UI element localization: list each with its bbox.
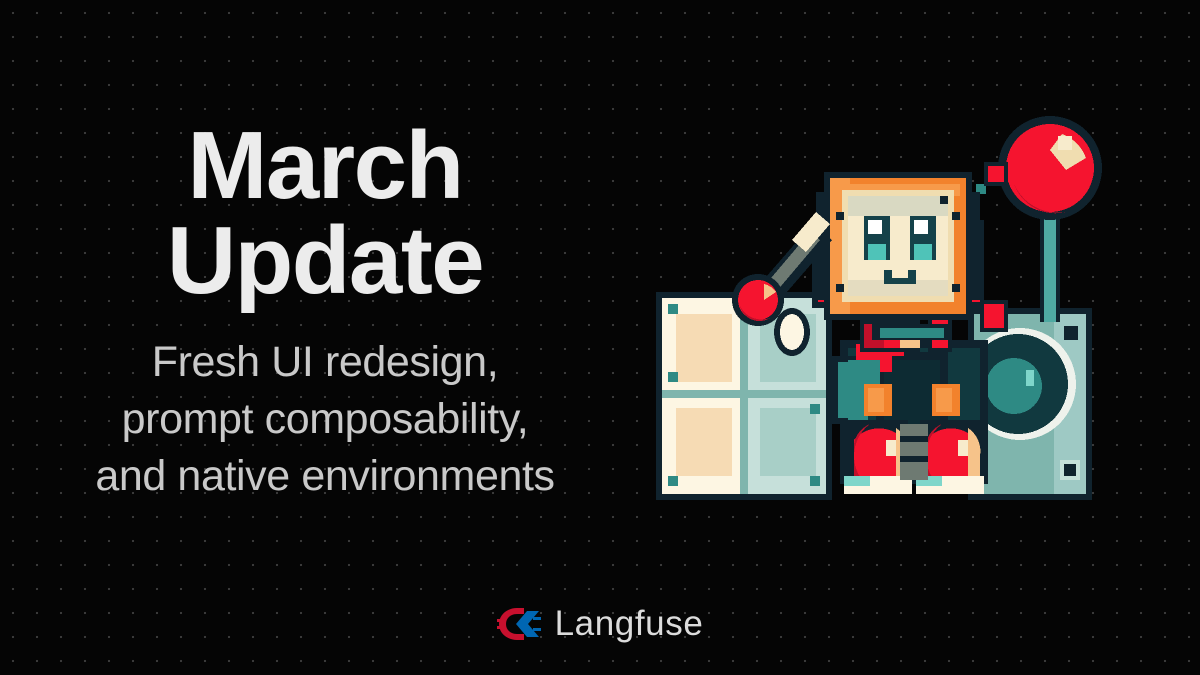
headline-line-1: March [0, 118, 650, 213]
subtitle-line-2: prompt composability, [0, 391, 650, 448]
langfuse-wordmark: Langfuse [555, 606, 704, 641]
text-block: March Update Fresh UI redesign, prompt c… [0, 118, 650, 506]
headline-line-2: Update [0, 213, 650, 308]
page-subtitle: Fresh UI redesign, prompt composability,… [0, 334, 650, 506]
langfuse-logo-icon [497, 607, 541, 641]
page-title: March Update [0, 118, 650, 308]
subtitle-line-3: and native environments [0, 448, 650, 505]
robot-illustration [648, 108, 1118, 508]
brand-lockup: Langfuse [0, 606, 1200, 641]
balloon [998, 116, 1102, 322]
subtitle-line-1: Fresh UI redesign, [0, 334, 650, 391]
marketing-banner: March Update Fresh UI redesign, prompt c… [0, 0, 1200, 675]
